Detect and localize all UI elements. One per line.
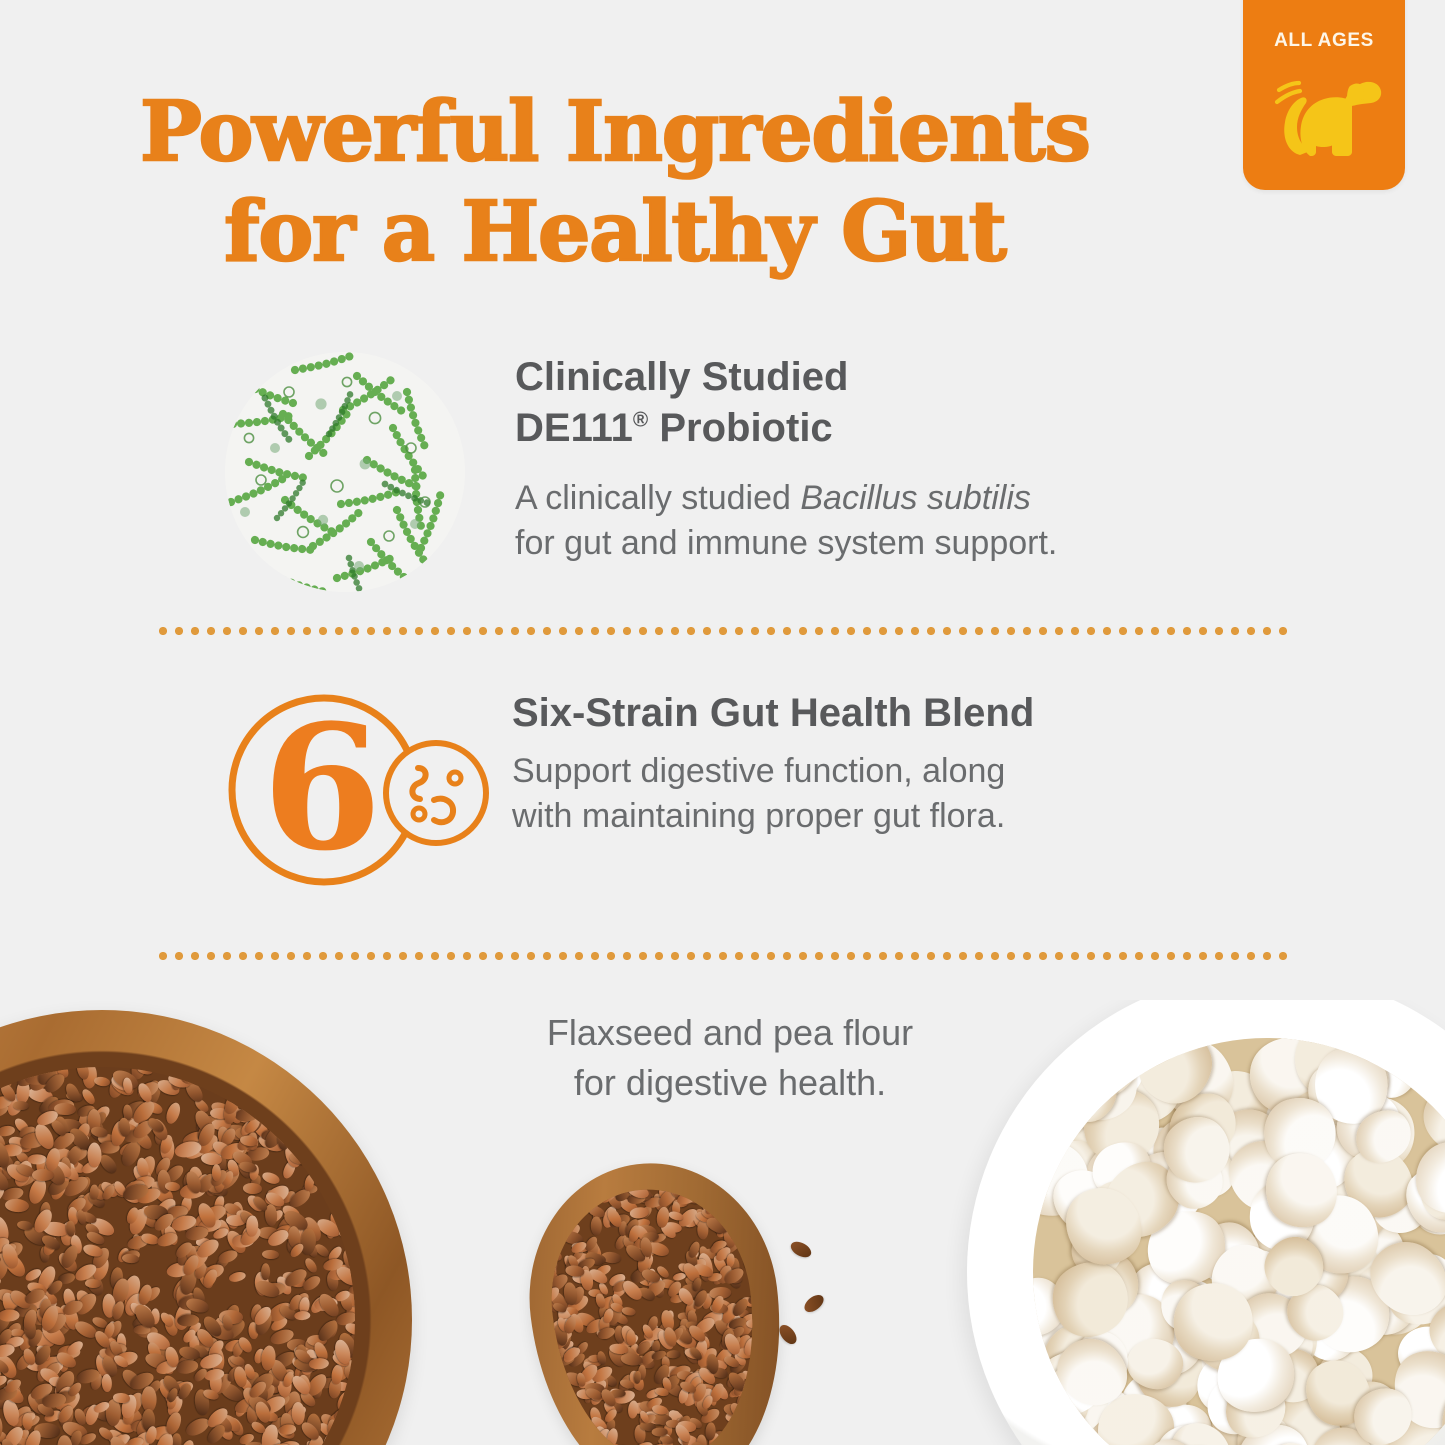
ingredient-photos (0, 1000, 1445, 1445)
infographic-page: ALL AGES Powerful Ingredien (0, 0, 1445, 1445)
bacteria-chains-graphic (225, 352, 465, 592)
headline-line-2: for a Healthy Gut (0, 182, 1230, 282)
feature-1-title-line-1: Clinically Studied (515, 355, 848, 399)
flaxseed-wooden-spoon-image (514, 1149, 800, 1445)
feature-1-body: A clinically studied Bacillus subtilis f… (515, 476, 1285, 566)
dog-icon (1266, 60, 1382, 164)
spoon-seed-fill (539, 1179, 769, 1445)
registered-mark: ® (633, 409, 648, 432)
page-title: Powerful Ingredients for a Healthy Gut (0, 82, 1230, 282)
feature-1-icon (225, 352, 465, 592)
headline-line-1: Powerful Ingredients (0, 82, 1230, 182)
feature-six-strain-blend: 6 Six-Strain Gut Health Blend Support di… (222, 688, 1282, 893)
feature-2-icon: 6 (222, 688, 490, 893)
six-numeral: 6 (262, 688, 382, 889)
spoon-bowl (514, 1149, 800, 1445)
feature-2-body: Support digestive function, along with m… (512, 749, 1282, 839)
feature-1-title: Clinically Studied DE111® Probiotic (515, 352, 1285, 454)
chickpea-fill (1033, 1038, 1445, 1445)
all-ages-badge: ALL AGES (1243, 0, 1405, 190)
feature-clinically-studied: Clinically Studied DE111® Probiotic A cl… (225, 352, 1285, 592)
loose-seed (801, 1292, 826, 1316)
all-ages-label: ALL AGES (1243, 30, 1405, 52)
flaxseed-wooden-bowl-image (0, 1010, 412, 1445)
flaxseed-fill (0, 1067, 355, 1445)
feature-2-text: Six-Strain Gut Health Blend Support dige… (512, 688, 1282, 839)
chickpea-white-bowl-image (967, 1000, 1445, 1445)
species-name: Bacillus subtilis (800, 479, 1031, 517)
microscope-bacteria-icon (225, 352, 465, 592)
six-strain-probiotic-icon: 6 (222, 688, 490, 893)
loose-seed (788, 1239, 814, 1261)
feature-1-title-line-2: DE111® Probiotic (515, 406, 833, 450)
feature-1-text: Clinically Studied DE111® Probiotic A cl… (515, 352, 1285, 566)
feature-2-title: Six-Strain Gut Health Blend (512, 688, 1282, 739)
dotted-divider-1 (155, 627, 1290, 635)
dotted-divider-2 (155, 952, 1290, 960)
